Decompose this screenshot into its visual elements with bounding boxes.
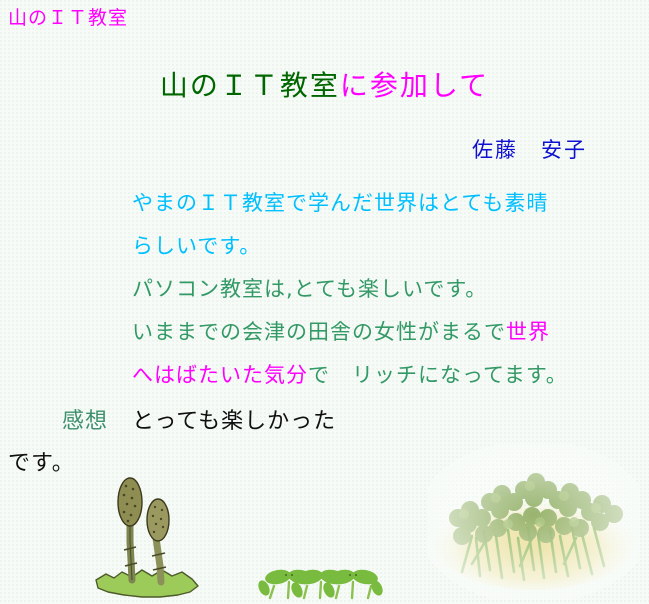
clover-field-illustration <box>428 444 640 600</box>
page-title-magenta-part: に参加して <box>340 69 489 102</box>
impression-text: とっても楽しかった <box>132 409 336 434</box>
sprouts-illustration <box>258 548 384 600</box>
impression-label: 感想 <box>62 409 108 434</box>
body-line-5-segment-2: で リッチになってます。 <box>308 363 568 387</box>
body-line-4-segment-2: 世界 <box>506 320 550 344</box>
horsetail-illustration <box>86 462 206 602</box>
page-title: 山のＩＴ教室に参加して <box>0 68 649 104</box>
body-line-5-segment-1: へはばたいた気分 <box>132 363 308 387</box>
body-line-4-segment-1: いままでの会津の田舎の女性がまるで <box>132 320 506 344</box>
closing-text: です。 <box>8 447 75 481</box>
body-line-1-segment-1: やまのＩＴ教室で学んだ世界はとても素晴 <box>132 191 548 215</box>
document-page: 山のＩＴ教室 山のＩＴ教室に参加して 佐藤 安子 やまのＩＴ教室で学んだ世界はと… <box>0 0 649 604</box>
body-line-5: へはばたいた気分で リッチになってます。 <box>132 354 644 397</box>
document-header-label: 山のＩＴ教室 <box>8 6 128 30</box>
page-title-green-part: 山のＩＴ教室 <box>160 69 340 102</box>
body-line-3-segment-1: パソコン教室は,とても楽しいです。 <box>132 277 487 301</box>
body-line-2: らしいです。 <box>132 225 644 268</box>
body-line-4: いままでの会津の田舎の女性がまるで世界 <box>132 311 644 354</box>
body-line-1: やまのＩＴ教室で学んだ世界はとても素晴 <box>132 182 644 225</box>
impression-line: 感想 とっても楽しかった <box>62 405 336 439</box>
body-line-3: パソコン教室は,とても楽しいです。 <box>132 268 644 311</box>
body-text: やまのＩＴ教室で学んだ世界はとても素晴 らしいです。 パソコン教室は,とても楽し… <box>132 182 644 397</box>
author-byline: 佐藤 安子 <box>0 136 649 164</box>
body-line-2-segment-1: らしいです。 <box>132 234 261 258</box>
